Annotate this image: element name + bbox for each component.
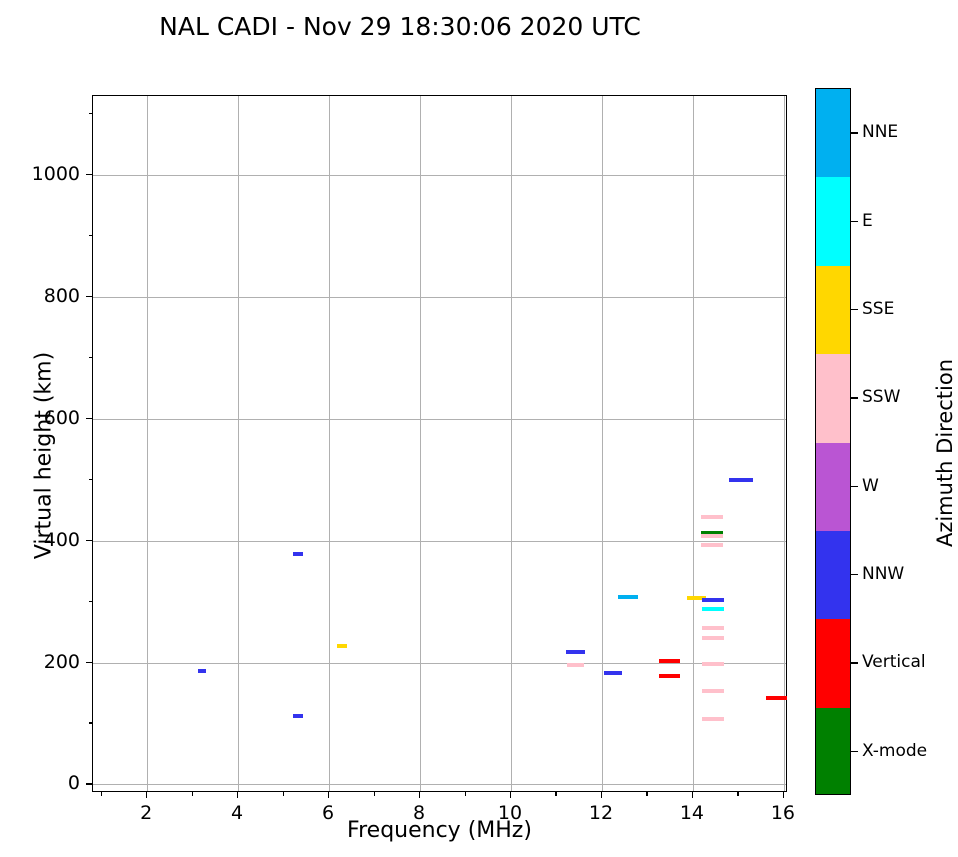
- colorbar-label-vertical: Vertical: [862, 652, 926, 672]
- gridline-vertical: [693, 96, 694, 791]
- colorbar-tick-mark: [851, 221, 858, 222]
- colorbar-tick-mark: [851, 132, 858, 133]
- data-point-echo: [604, 671, 622, 675]
- x-tick-mark: [601, 792, 602, 798]
- colorbar-segment-w: [816, 443, 850, 532]
- colorbar-segment-sse: [816, 266, 850, 355]
- x-tick-minor: [646, 792, 647, 796]
- colorbar-tick-mark: [851, 751, 858, 752]
- x-tick-mark: [328, 792, 329, 798]
- colorbar-segment-nne: [816, 89, 850, 178]
- x-tick-minor: [555, 792, 556, 796]
- y-tick-label: 1000: [10, 163, 80, 185]
- data-point-echo: [337, 644, 347, 648]
- data-point-echo: [702, 689, 724, 693]
- y-tick-mark: [86, 540, 92, 541]
- y-tick-mark: [86, 174, 92, 175]
- data-point-echo: [702, 636, 724, 640]
- colorbar-label-w: W: [862, 476, 879, 496]
- data-point-echo: [702, 662, 724, 666]
- y-tick-minor: [89, 722, 93, 723]
- y-tick-minor: [89, 601, 93, 602]
- x-tick-minor: [101, 792, 102, 796]
- x-tick-minor: [283, 792, 284, 796]
- x-tick-minor: [192, 792, 193, 796]
- colorbar-segment-x-mode: [816, 708, 850, 795]
- y-tick-minor: [89, 235, 93, 236]
- x-tick-mark: [237, 792, 238, 798]
- y-tick-mark: [86, 296, 92, 297]
- colorbar-label-nnw: NNW: [862, 564, 904, 584]
- y-tick-minor: [89, 113, 93, 114]
- y-tick-mark: [86, 418, 92, 419]
- y-tick-label: 800: [10, 285, 80, 307]
- colorbar-label-sse: SSE: [862, 299, 894, 319]
- data-point-echo: [729, 478, 753, 482]
- gridline-horizontal: [93, 541, 786, 542]
- x-tick-minor: [374, 792, 375, 796]
- plot-canvas: [93, 96, 786, 791]
- gridline-vertical: [784, 96, 785, 791]
- gridline-vertical: [511, 96, 512, 791]
- data-point-echo: [659, 659, 680, 663]
- colorbar-label-nne: NNE: [862, 122, 898, 142]
- colorbar-segment-ssw: [816, 354, 850, 443]
- x-tick-mark: [692, 792, 693, 798]
- gridline-horizontal: [93, 419, 786, 420]
- x-tick-mark: [510, 792, 511, 798]
- x-axis-label: Frequency (MHz): [92, 818, 787, 843]
- colorbar: [815, 88, 851, 795]
- colorbar-segment-e: [816, 177, 850, 266]
- data-point-echo: [659, 674, 680, 678]
- data-point-echo: [618, 595, 638, 599]
- x-tick-mark: [146, 792, 147, 798]
- gridline-horizontal: [93, 297, 786, 298]
- gridline-horizontal: [93, 663, 786, 664]
- colorbar-label-e: E: [862, 211, 873, 231]
- gridline-vertical: [420, 96, 421, 791]
- page-title: NAL CADI - Nov 29 18:30:06 2020 UTC: [0, 12, 800, 41]
- data-point-echo: [702, 717, 724, 721]
- y-tick-label: 0: [10, 772, 80, 794]
- colorbar-tick-mark: [851, 309, 858, 310]
- ionogram-figure: NAL CADI - Nov 29 18:30:06 2020 UTC 0200…: [0, 0, 958, 857]
- colorbar-label: Azimuth Direction: [933, 303, 957, 603]
- y-tick-mark: [86, 662, 92, 663]
- y-tick-minor: [89, 479, 93, 480]
- x-tick-minor: [737, 792, 738, 796]
- data-point-echo: [293, 552, 303, 556]
- data-point-echo: [702, 598, 724, 602]
- data-point-echo: [293, 714, 303, 718]
- gridline-vertical: [238, 96, 239, 791]
- data-point-echo: [766, 696, 787, 700]
- x-tick-mark: [419, 792, 420, 798]
- colorbar-tick-mark: [851, 574, 858, 575]
- data-point-echo: [198, 669, 206, 673]
- data-point-echo: [702, 607, 724, 611]
- x-tick-mark: [783, 792, 784, 798]
- colorbar-segment-nnw: [816, 531, 850, 620]
- data-point-echo: [701, 515, 724, 519]
- colorbar-tick-mark: [851, 397, 858, 398]
- y-tick-label: 200: [10, 651, 80, 673]
- y-axis-label: Virtual height (km): [32, 306, 57, 606]
- data-point-echo: [701, 534, 724, 538]
- x-tick-minor: [465, 792, 466, 796]
- data-point-echo: [567, 663, 583, 667]
- plot-area: [92, 95, 787, 792]
- colorbar-label-ssw: SSW: [862, 387, 900, 407]
- data-point-echo: [566, 650, 584, 654]
- colorbar-tick-mark: [851, 662, 858, 663]
- gridline-horizontal: [93, 784, 786, 785]
- y-tick-minor: [89, 357, 93, 358]
- gridline-vertical: [329, 96, 330, 791]
- data-point-echo: [702, 626, 724, 630]
- colorbar-tick-mark: [851, 486, 858, 487]
- gridline-vertical: [602, 96, 603, 791]
- gridline-horizontal: [93, 175, 786, 176]
- data-point-echo: [701, 543, 724, 547]
- gridline-vertical: [147, 96, 148, 791]
- colorbar-segment-vertical: [816, 619, 850, 708]
- y-tick-mark: [86, 783, 92, 784]
- colorbar-label-x-mode: X-mode: [862, 741, 927, 761]
